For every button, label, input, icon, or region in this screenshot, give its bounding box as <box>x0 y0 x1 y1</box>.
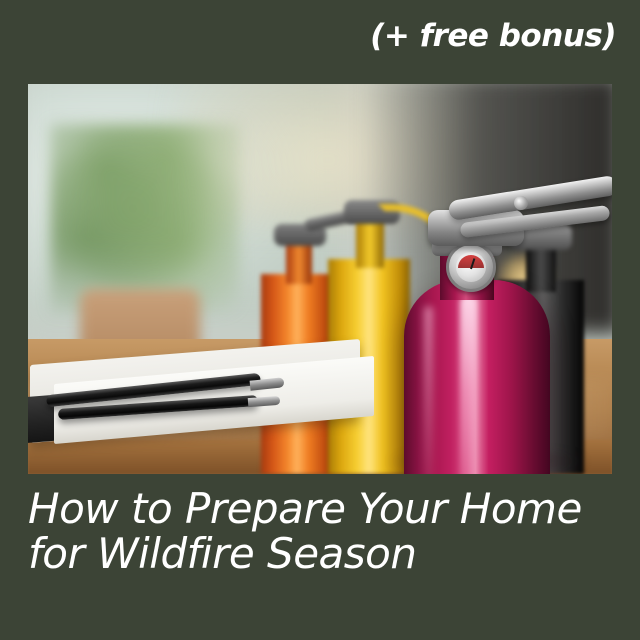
extinguisher-lever-pin <box>514 196 528 210</box>
headline-line-2: for Wildfire Season <box>28 532 618 577</box>
potted-plant-leaves <box>50 124 240 314</box>
headline-line-1: How to Prepare Your Home <box>28 487 618 532</box>
pressure-gauge <box>446 242 496 292</box>
social-graphic-card: (+ free bonus) <box>0 0 640 640</box>
free-bonus-label: (+ free bonus) <box>370 18 616 54</box>
hero-photo <box>28 84 612 474</box>
pressure-gauge-face <box>456 252 486 282</box>
magenta-highlight-main <box>460 294 477 474</box>
magenta-highlight-secondary <box>424 306 433 474</box>
headline: How to Prepare Your Home for Wildfire Se… <box>28 487 618 577</box>
